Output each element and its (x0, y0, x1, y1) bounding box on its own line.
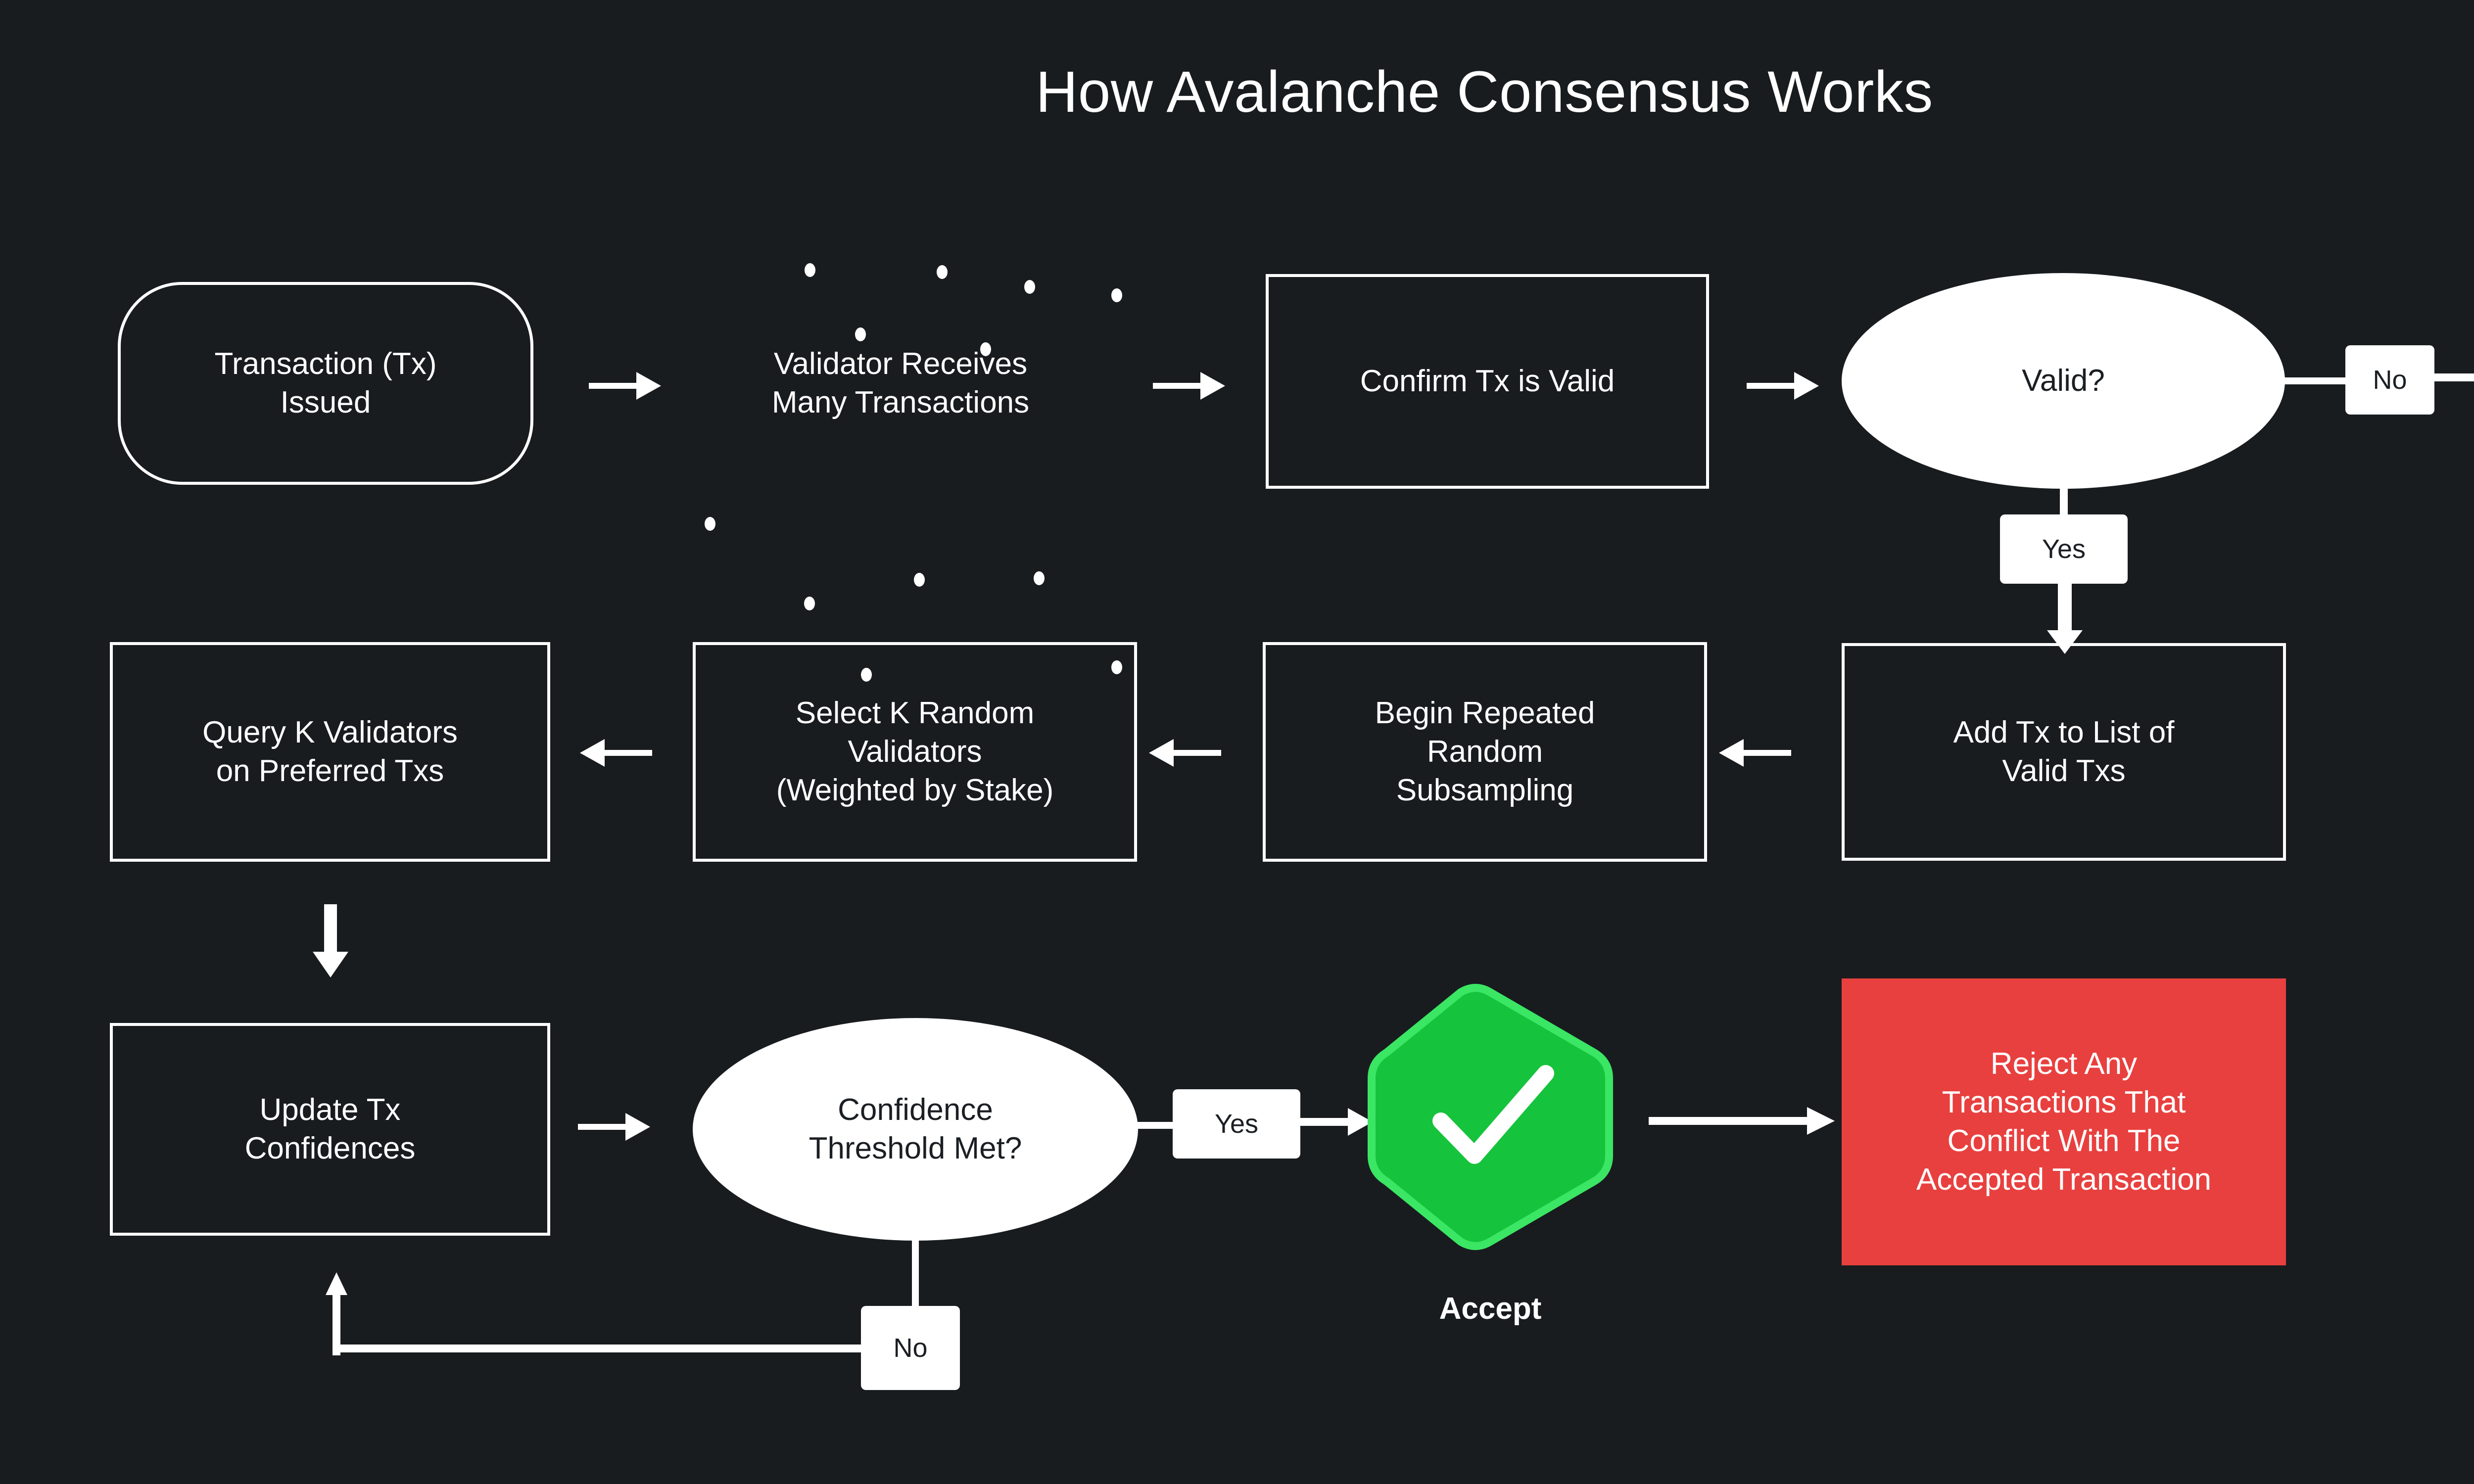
edge-confidence-no-line-left (333, 1345, 865, 1352)
dot (1111, 288, 1122, 302)
node-update-confidences[interactable]: Update Tx Confidences (110, 1023, 550, 1236)
edge-label-valid-yes: Yes (2000, 514, 2128, 584)
dot (805, 263, 815, 277)
edge-valid-yes-line-top (2060, 485, 2068, 516)
arrow-tx-to-validator (589, 366, 663, 406)
node-valid-decision-label: Valid? (2022, 362, 2105, 400)
arrow-subsampling-to-selectk (1147, 733, 1221, 773)
edge-label-confidence-yes: Yes (1173, 1089, 1300, 1159)
dot (1034, 571, 1045, 585)
node-add-tx-valid-list-label: Add Tx to List of Valid Txs (1953, 713, 2175, 790)
node-validator-receives-label: Validator Receives Many Transactions (772, 345, 1029, 422)
node-add-tx-valid-list[interactable]: Add Tx to List of Valid Txs (1842, 643, 2286, 861)
node-select-k-validators[interactable]: Select K Random Validators (Weighted by … (693, 642, 1137, 862)
hexagon-shape (1362, 983, 1619, 1251)
node-query-k-validators-label: Query K Validators on Preferred Txs (202, 713, 458, 790)
edge-label-confidence-no-text: No (893, 1333, 927, 1363)
arrow-confirm-to-valid (1747, 366, 1821, 406)
node-begin-subsampling-label: Begin Repeated Random Subsampling (1375, 694, 1595, 810)
node-update-confidences-label: Update Tx Confidences (245, 1091, 416, 1168)
edge-label-valid-no: No (2345, 345, 2434, 415)
node-accept[interactable] (1362, 983, 1619, 1251)
node-begin-subsampling[interactable]: Begin Repeated Random Subsampling (1263, 642, 1707, 862)
arrow-selectk-to-queryk (578, 733, 652, 773)
dot (1024, 280, 1035, 294)
dot (937, 265, 948, 279)
arrow-no-loop-back (322, 1271, 351, 1355)
dot (914, 573, 925, 587)
edge-label-valid-yes-text: Yes (2042, 534, 2086, 564)
node-reject-conflicts[interactable]: Reject Any Transactions That Conflict Wi… (1842, 978, 2286, 1265)
edge-label-valid-no-text: No (2373, 365, 2407, 395)
node-confirm-tx-valid[interactable]: Confirm Tx is Valid (1266, 274, 1709, 489)
edge-label-confidence-yes-text: Yes (1215, 1109, 1258, 1139)
node-transaction-issued[interactable]: Transaction (Tx) Issued (118, 282, 533, 485)
node-valid-decision[interactable]: Valid? (1842, 273, 2285, 489)
edge-valid-no-line (2276, 377, 2355, 384)
node-confirm-tx-valid-label: Confirm Tx is Valid (1360, 362, 1615, 401)
node-select-k-validators-label: Select K Random Validators (Weighted by … (776, 694, 1054, 810)
flowchart-canvas: How Avalanche Consensus Works Transactio… (0, 0, 2474, 1484)
dot (804, 597, 815, 610)
node-transaction-issued-label: Transaction (Tx) Issued (214, 345, 436, 422)
dot (705, 517, 715, 531)
arrow-addtx-to-subsampling (1717, 733, 1791, 773)
node-accept-label: Accept (1362, 1291, 1619, 1326)
node-reject-conflicts-label: Reject Any Transactions That Conflict Wi… (1916, 1045, 2211, 1199)
node-query-k-validators[interactable]: Query K Validators on Preferred Txs (110, 642, 550, 862)
arrow-validator-to-confirm (1153, 366, 1227, 406)
arrow-queryk-to-update (311, 904, 350, 978)
edge-label-confidence-no: No (861, 1306, 960, 1390)
node-confidence-decision[interactable]: Confidence Threshold Met? (693, 1018, 1138, 1241)
arrow-accept-to-reject (1649, 1107, 1837, 1137)
node-validator-receives[interactable]: Validator Receives Many Transactions (693, 326, 1108, 440)
page-title: How Avalanche Consensus Works (0, 58, 2474, 126)
arrow-no-to-ignore (2429, 364, 2474, 393)
node-confidence-decision-label: Confidence Threshold Met? (809, 1091, 1022, 1168)
arrow-update-to-confidence (578, 1107, 652, 1147)
